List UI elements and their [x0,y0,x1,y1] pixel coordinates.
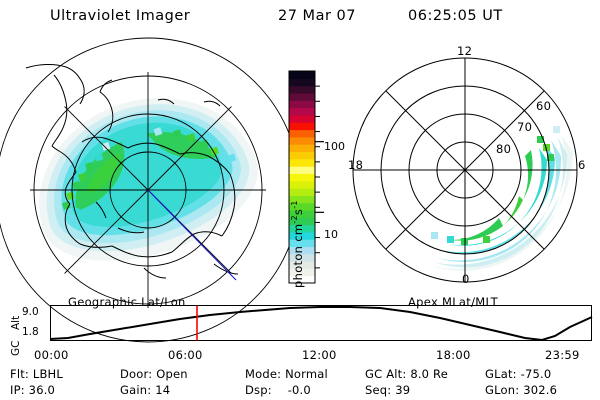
status-ip-label: IP: [10,383,25,397]
status-door: Door: Open [120,367,188,381]
status-seq-value: 39 [395,383,410,397]
orbit-xtick-1: 06:00 [168,348,203,362]
status-dsp-label: Dsp: [245,383,272,397]
colorbar-label-mid: s [291,209,305,215]
apex-polar-panel[interactable] [336,42,594,292]
colorbar-axis-label: photon cm-2s-1 [290,200,305,288]
colorbar-minor-ticks [315,86,320,268]
mlat-label-60: 60 [536,99,551,113]
instrument-title: Ultraviolet Imager [50,8,190,24]
status-gcalt-value: 8.0 Re [410,367,448,381]
colorbar-label-main: photon cm [291,224,305,288]
observation-date: 27 Mar 07 [278,8,356,24]
orbit-xtick-0: 00:00 [34,348,69,362]
status-gcalt-label: GC Alt: [365,367,406,381]
geographic-map-panel[interactable] [8,42,270,292]
status-glon-value: 302.6 [523,383,557,397]
status-door-label: Door: [120,367,152,381]
status-dsp: Dsp: -0.0 [245,383,311,397]
status-glat-label: GLat: [485,367,517,381]
mlat-label-70: 70 [517,120,532,134]
orbit-y-axis-label-alt: Alt [10,316,22,330]
status-gain-label: Gain: [120,383,151,397]
orbit-altitude-curve [50,307,592,340]
orbit-altitude-plot[interactable] [50,305,592,345]
status-gain: Gain: 14 [120,383,170,397]
status-seq-label: Seq: [365,383,391,397]
orbit-xtick-3: 18:00 [436,348,471,362]
status-flt: Flt: LBHL [10,367,63,381]
status-mode: Mode: Normal [245,367,328,381]
colorbar-label-sup2: -1 [290,200,299,209]
status-mode-value: Normal [285,367,328,381]
colorbar[interactable]: photon cm-2s-1 100 10 [276,60,342,295]
mlt-label-12: 12 [457,44,472,58]
mlt-label-6: 6 [578,158,586,172]
status-gain-value: 14 [155,383,170,397]
status-ip: IP: 36.0 [10,383,55,397]
mlat-label-80: 80 [496,142,511,156]
status-glat-value: -75.0 [521,367,552,381]
orbit-ytick-bottom: 1.8 [22,326,39,338]
colorbar-label-sup1: -2 [290,215,299,224]
apex-polar-grid [353,58,577,282]
orbit-xtick-2: 12:00 [302,348,337,362]
orbit-ytick-top: 9.0 [22,306,39,318]
status-glat: GLat: -75.0 [485,367,551,381]
status-mode-label: Mode: [245,367,281,381]
status-ip-value: 36.0 [29,383,55,397]
status-dsp-value: -0.0 [288,383,311,397]
orbit-xtick-4: 23:59 [545,348,580,362]
orbit-y-axis-label-gc: GC [10,341,22,356]
status-flt-value: LBHL [33,367,63,381]
status-gcalt: GC Alt: 8.0 Re [365,367,448,381]
status-seq: Seq: 39 [365,383,410,397]
observation-time: 06:25:05 UT [408,8,503,24]
status-flt-label: Flt: [10,367,29,381]
mlt-label-18: 18 [348,158,363,172]
mlt-label-0: 0 [462,272,470,286]
status-glon: GLon: 302.6 [485,383,557,397]
status-door-value: Open [156,367,188,381]
status-glon-label: GLon: [485,383,519,397]
